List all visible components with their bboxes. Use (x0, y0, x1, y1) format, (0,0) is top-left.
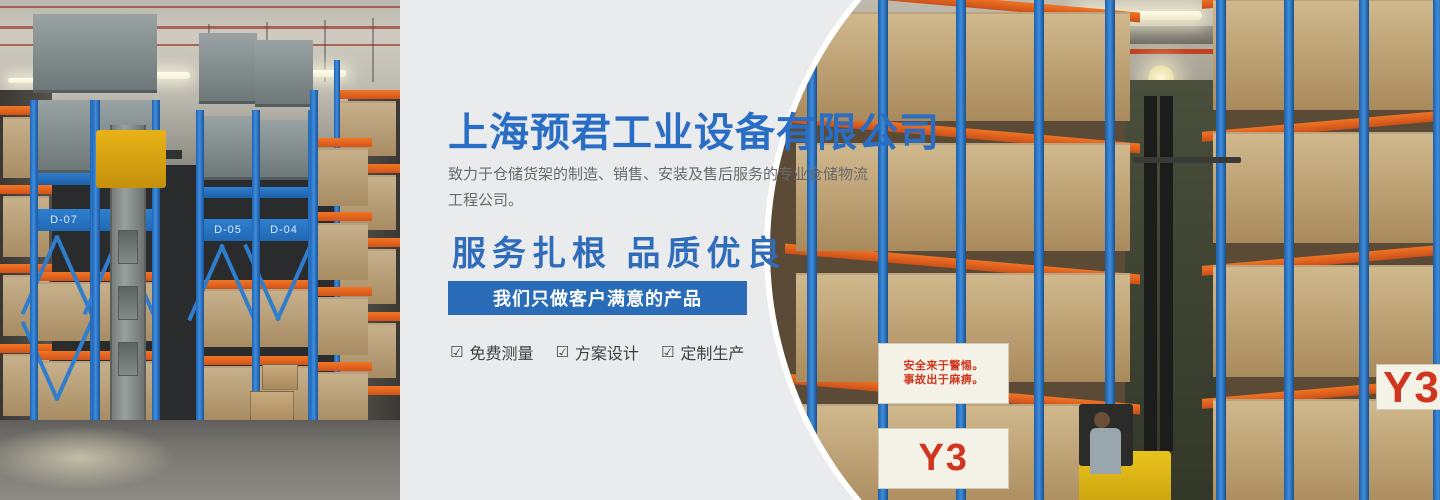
page-title: 上海预君工业设备有限公司 (448, 100, 940, 158)
check-icon: ☑ (661, 345, 674, 360)
check-icon: ☑ (450, 345, 463, 360)
crane-head (96, 130, 166, 188)
feature-item-custom-production: ☑ 定制生产 (661, 340, 744, 364)
rack-bay: D-07 (30, 100, 98, 430)
carton (262, 364, 298, 390)
company-subtitle: 致力于仓储货架的制造、销售、安装及售后服务的专业仓储物流工程公司。 (448, 162, 868, 214)
feature-label: 方案设计 (575, 340, 639, 364)
rack-block-right (1202, 0, 1440, 500)
aisle-label: D-04 (252, 219, 316, 241)
promo-banner: D-07 D-06 D- (0, 0, 1440, 500)
cta-button[interactable]: 我们只做客户满意的产品 (448, 281, 747, 315)
forklift-mast (1160, 96, 1173, 451)
aisle-label: D-05 (196, 219, 260, 241)
feature-list: ☑ 免费测量 ☑ 方案设计 ☑ 定制生产 (450, 340, 744, 364)
aisle-label: D-07 (30, 209, 98, 231)
banner-content: 上海预君工业设备有限公司 致力于仓储货架的制造、销售、安装及售后服务的专业仓储物… (448, 0, 918, 500)
forklift-driver (1090, 428, 1121, 474)
right-warehouse-photo: 安全来于警惕。 事故出于麻痹。 Y3 Y3 (900, 0, 1440, 500)
bay-sign-right: Y3 (1376, 364, 1440, 410)
left-warehouse-photo: D-07 D-06 D- (0, 0, 400, 500)
check-icon: ☑ (555, 345, 568, 360)
feature-label: 免费测量 (469, 340, 533, 364)
feature-item-scheme-design: ☑ 方案设计 (555, 340, 638, 364)
rack-bay (310, 90, 372, 430)
company-slogan: 服务扎根 品质优良 (452, 226, 787, 275)
feature-item-free-measure: ☑ 免费测量 (450, 340, 533, 364)
forklift-mast (1144, 96, 1157, 451)
floor-highlight (0, 425, 176, 490)
ceiling-beam (0, 6, 400, 8)
rack-bay: D-05 (196, 110, 260, 430)
feature-label: 定制生产 (680, 340, 744, 364)
forklift-fork (1133, 157, 1241, 163)
